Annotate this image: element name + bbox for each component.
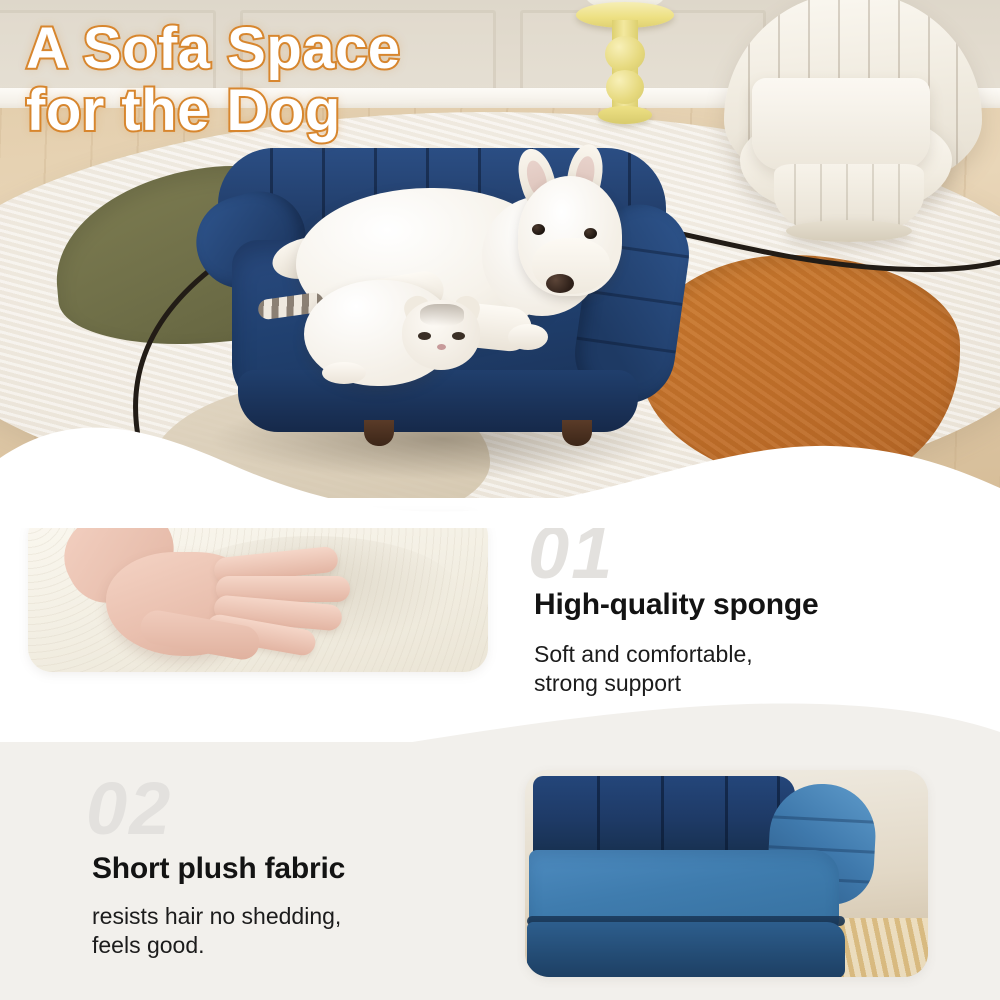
dog-paw [508, 324, 548, 350]
feature-body-01-line-1: Soft and comfortable, [534, 641, 753, 667]
cream-armchair [718, 0, 988, 262]
cat-eye [452, 332, 465, 340]
feature-heading-01: High-quality sponge [534, 588, 819, 622]
sofa-skirt-closeup [527, 922, 845, 977]
feature-image-fabric [525, 770, 928, 977]
feature-image-sponge [28, 512, 488, 672]
feature-body-01: Soft and comfortable, strong support [534, 640, 753, 699]
product-marketing-page: A Sofa Space for the Dog 01 High-quality… [0, 0, 1000, 1000]
armchair-plinth [786, 220, 912, 242]
feature-body-02-line-1: resists hair no shedding, [92, 903, 341, 929]
hero-title-line-2: for the Dog [26, 80, 401, 142]
feature-body-01-line-2: strong support [534, 670, 681, 696]
feature-number-02: 02 [86, 772, 172, 846]
pressing-hand [64, 526, 364, 672]
white-cat [304, 270, 494, 400]
table-bulb-lower [606, 70, 644, 104]
dog-eye [532, 224, 545, 235]
cat-nose [437, 344, 446, 350]
table-base [598, 106, 652, 124]
feature-heading-02: Short plush fabric [92, 852, 345, 886]
cat-eye [418, 332, 431, 340]
dog-eye [584, 228, 597, 239]
cat-paw [322, 362, 366, 384]
dog-nose [546, 274, 574, 293]
wave-divider-icon [0, 418, 1000, 528]
hero-title: A Sofa Space for the Dog [26, 18, 401, 142]
cat-face-marking [420, 304, 464, 326]
yellow-pedestal-table [576, 0, 674, 144]
hero-title-line-1: A Sofa Space [26, 16, 401, 81]
feature-body-02: resists hair no shedding, feels good. [92, 902, 341, 961]
sofa-backrest-closeup [533, 776, 795, 856]
feature-body-02-line-2: feels good. [92, 932, 205, 958]
table-bulb-upper [605, 36, 645, 72]
armchair-front-cushion [752, 78, 930, 170]
